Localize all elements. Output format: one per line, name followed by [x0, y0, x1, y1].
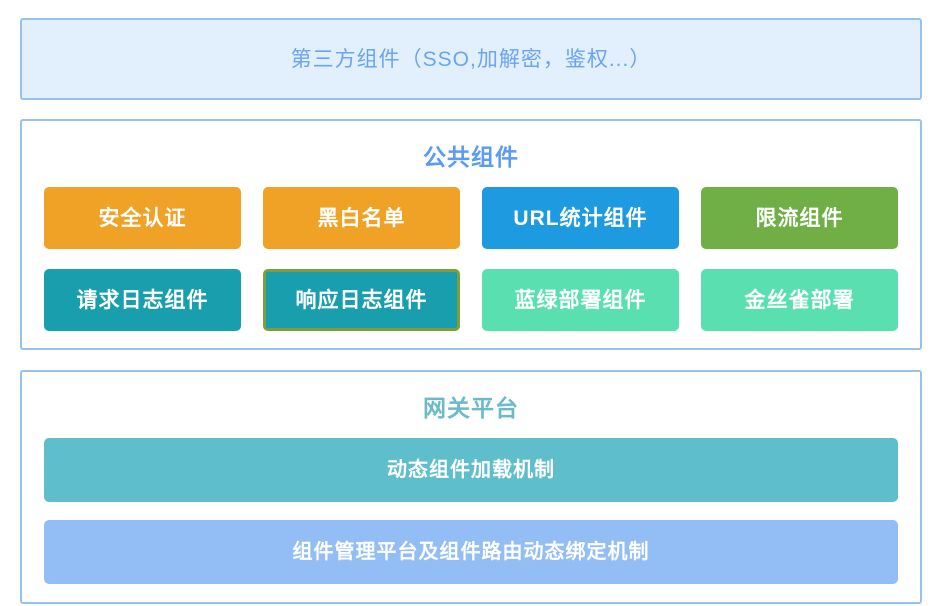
component-tile-rate-limiting[interactable]: 限流组件 [701, 187, 898, 249]
gateway-bar-dynamic-component-loading[interactable]: 动态组件加载机制 [44, 438, 898, 502]
architecture-diagram: 第三方组件（SSO,加解密，鉴权...） 公共组件 安全认证 黑白名单 URL统… [0, 0, 942, 606]
component-tile-label: 金丝雀部署 [745, 290, 855, 311]
component-tile-request-log[interactable]: 请求日志组件 [44, 269, 241, 331]
component-tile-security-auth[interactable]: 安全认证 [44, 187, 241, 249]
component-tile-blue-green-deploy[interactable]: 蓝绿部署组件 [482, 269, 679, 331]
public-components-panel: 公共组件 安全认证 黑白名单 URL统计组件 限流组件 请求日志组件 响应日志组… [20, 119, 922, 350]
third-party-components-label: 第三方组件（SSO,加解密，鉴权...） [291, 49, 652, 70]
gateway-bar-component-management-routing[interactable]: 组件管理平台及组件路由动态绑定机制 [44, 520, 898, 584]
gateway-bar-label: 组件管理平台及组件路由动态绑定机制 [293, 542, 650, 562]
public-components-row-2: 请求日志组件 响应日志组件 蓝绿部署组件 金丝雀部署 [44, 269, 898, 331]
gateway-platform-title: 网关平台 [44, 397, 898, 420]
component-tile-url-statistics[interactable]: URL统计组件 [482, 187, 679, 249]
third-party-components-banner: 第三方组件（SSO,加解密，鉴权...） [20, 18, 922, 100]
public-components-title: 公共组件 [44, 146, 898, 169]
component-tile-label: 响应日志组件 [296, 290, 428, 311]
component-tile-label: 安全认证 [99, 208, 187, 229]
component-tile-label: URL统计组件 [513, 208, 647, 229]
component-tile-blacklist-whitelist[interactable]: 黑白名单 [263, 187, 460, 249]
gateway-bar-label: 动态组件加载机制 [387, 460, 555, 480]
component-tile-label: 黑白名单 [318, 208, 406, 229]
component-tile-label: 限流组件 [756, 208, 844, 229]
component-tile-response-log[interactable]: 响应日志组件 [263, 269, 460, 331]
public-components-row-1: 安全认证 黑白名单 URL统计组件 限流组件 [44, 187, 898, 249]
component-tile-canary-deploy[interactable]: 金丝雀部署 [701, 269, 898, 331]
component-tile-label: 蓝绿部署组件 [515, 290, 647, 311]
component-tile-label: 请求日志组件 [77, 290, 209, 311]
gateway-platform-panel: 网关平台 动态组件加载机制 组件管理平台及组件路由动态绑定机制 [20, 370, 922, 604]
